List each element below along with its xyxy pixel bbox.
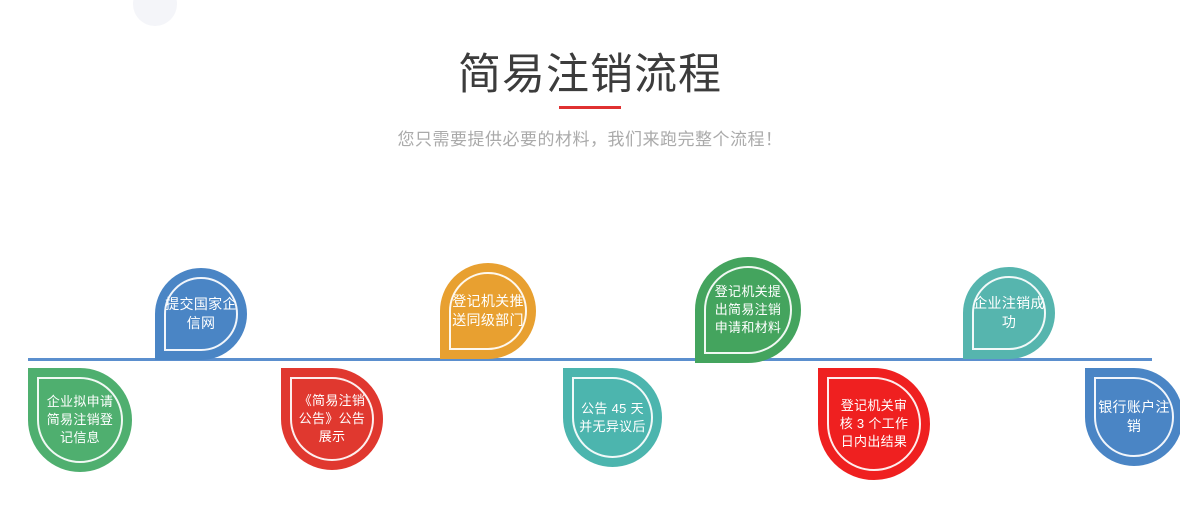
timeline-step-marker: 企业拟申请简易注销登记信息: [28, 368, 132, 472]
timeline-step-label: 提交国家企信网: [164, 295, 238, 333]
timeline-step-label: 公告 45 天并无异议后: [576, 400, 650, 435]
timeline-step-1[interactable]: 企业拟申请简易注销登记信息: [28, 368, 132, 472]
timeline-step-marker: 公告 45 天并无异议后: [563, 368, 662, 467]
timeline-step-marker: 登记机关提出简易注销申请和材料: [695, 257, 801, 363]
timeline-step-5[interactable]: 公告 45 天并无异议后: [563, 368, 662, 467]
timeline-step-label: 登记机关推送同级部门: [451, 292, 525, 330]
timeline-step-6[interactable]: 登记机关提出简易注销申请和材料: [695, 257, 801, 363]
timeline-step-marker: 银行账户注销: [1085, 368, 1180, 466]
timeline-step-label: 登记机关审核 3 个工作日内出结果: [837, 397, 911, 450]
timeline-step-7[interactable]: 登记机关审核 3 个工作日内出结果: [818, 368, 930, 480]
timeline-step-9[interactable]: 银行账户注销: [1085, 368, 1180, 466]
process-timeline: 企业拟申请简易注销登记信息提交国家企信网《简易注销公告》公告展示登记机关推送同级…: [0, 0, 1180, 516]
timeline-step-3[interactable]: 《简易注销公告》公告展示: [281, 368, 383, 470]
timeline-step-marker: 企业注销成功: [963, 267, 1055, 359]
timeline-step-label: 银行账户注销: [1097, 398, 1171, 436]
timeline-step-8[interactable]: 企业注销成功: [963, 267, 1055, 359]
timeline-step-marker: 《简易注销公告》公告展示: [281, 368, 383, 470]
timeline-step-marker: 登记机关推送同级部门: [440, 263, 536, 359]
timeline-step-2[interactable]: 提交国家企信网: [155, 268, 247, 360]
timeline-step-label: 登记机关提出简易注销申请和材料: [711, 283, 785, 336]
timeline-step-4[interactable]: 登记机关推送同级部门: [440, 263, 536, 359]
timeline-step-marker: 提交国家企信网: [155, 268, 247, 360]
timeline-step-label: 企业注销成功: [972, 294, 1046, 332]
timeline-step-label: 企业拟申请简易注销登记信息: [43, 393, 117, 446]
timeline-step-label: 《简易注销公告》公告展示: [295, 392, 369, 445]
timeline-step-marker: 登记机关审核 3 个工作日内出结果: [818, 368, 930, 480]
